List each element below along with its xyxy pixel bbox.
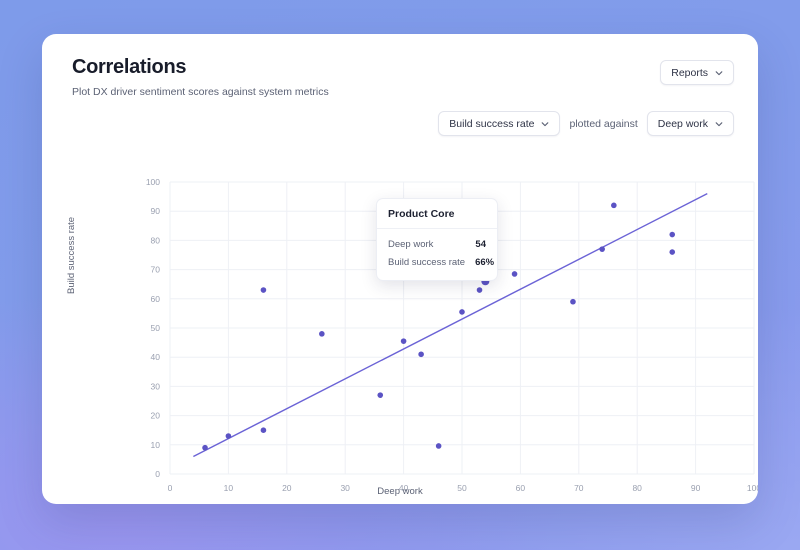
tooltip-row: Deep work54 (388, 235, 486, 253)
scatter-point[interactable] (377, 392, 383, 398)
card-header: Correlations Plot DX driver sentiment sc… (72, 56, 329, 98)
scatter-point[interactable] (599, 246, 605, 252)
scatter-plot-svg[interactable]: 0102030405060708090100010203040506070809… (42, 134, 758, 504)
reports-dropdown-button[interactable]: Reports (660, 60, 734, 85)
tooltip-row-value: 54 (475, 239, 486, 250)
y-metric-select[interactable]: Build success rate (438, 111, 560, 136)
y-tick-label: 50 (151, 323, 161, 333)
reports-button-label: Reports (671, 67, 708, 79)
scatter-point[interactable] (202, 445, 208, 451)
scatter-point[interactable] (611, 203, 617, 209)
x-axis-label: Deep work (42, 486, 758, 497)
scatter-point[interactable] (261, 287, 267, 293)
plotted-against-label: plotted against (569, 118, 637, 130)
scatter-point[interactable] (418, 351, 424, 357)
chevron-down-icon (715, 120, 723, 128)
y-tick-label: 10 (151, 440, 161, 450)
scatter-point[interactable] (477, 287, 483, 293)
scatter-point[interactable] (401, 338, 407, 344)
tooltip-row: Build success rate66% (388, 253, 486, 271)
y-tick-label: 0 (155, 469, 160, 479)
metric-selector-row: Build success rate plotted against Deep … (438, 111, 734, 136)
y-tick-label: 70 (151, 265, 161, 275)
scatter-point[interactable] (436, 443, 442, 449)
tooltip-title: Product Core (377, 199, 497, 229)
chevron-down-icon (715, 69, 723, 77)
y-tick-label: 90 (151, 206, 161, 216)
chevron-down-icon (541, 120, 549, 128)
y-tick-label: 20 (151, 411, 161, 421)
scatter-point[interactable] (570, 299, 576, 305)
scatter-point[interactable] (459, 309, 465, 315)
correlations-card: Correlations Plot DX driver sentiment sc… (42, 34, 758, 504)
y-tick-label: 100 (146, 177, 160, 187)
scatter-point[interactable] (261, 427, 267, 433)
y-tick-label: 60 (151, 294, 161, 304)
tooltip-row-key: Build success rate (388, 257, 465, 268)
x-metric-select[interactable]: Deep work (647, 111, 734, 136)
scatter-point[interactable] (512, 271, 518, 277)
tooltip-row-key: Deep work (388, 239, 433, 250)
x-metric-label: Deep work (658, 118, 708, 130)
y-axis-label: Build success rate (66, 217, 77, 294)
point-tooltip: Product Core Deep work54Build success ra… (376, 198, 498, 281)
tooltip-rows: Deep work54Build success rate66% (377, 229, 497, 280)
y-metric-label: Build success rate (449, 118, 534, 130)
y-tick-label: 40 (151, 352, 161, 362)
scatter-point[interactable] (669, 249, 675, 255)
page-title: Correlations (72, 56, 329, 79)
page-subtitle: Plot DX driver sentiment scores against … (72, 86, 329, 98)
scatter-point[interactable] (226, 433, 232, 439)
scatter-point[interactable] (319, 331, 325, 337)
scatter-chart: 0102030405060708090100010203040506070809… (42, 134, 758, 504)
scatter-point[interactable] (669, 232, 675, 238)
tooltip-row-value: 66% (475, 257, 494, 268)
y-tick-label: 30 (151, 381, 161, 391)
y-tick-label: 80 (151, 235, 161, 245)
